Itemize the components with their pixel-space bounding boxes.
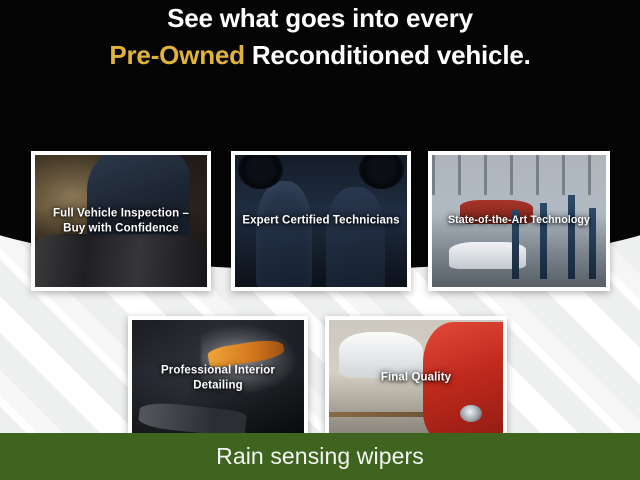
tire-left <box>238 155 283 189</box>
footer-label: Rain sensing wipers <box>216 443 424 470</box>
card-media: Expert Certified Technicians <box>235 155 407 287</box>
lift-post-3 <box>568 195 575 279</box>
headline-line-2-rest: Reconditioned vehicle. <box>245 40 531 70</box>
headline-line-2: Pre-Owned Reconditioned vehicle. <box>0 37 640 74</box>
tire-right <box>359 155 404 189</box>
card-media: State-of-the-Art Technology <box>432 155 606 287</box>
feature-card-professional-interior-detailing[interactable]: Professional Interior Detailing <box>128 316 308 440</box>
headline-line-1: See what goes into every <box>0 0 640 37</box>
showroom-floor-line <box>329 412 437 418</box>
card-media: Final Quality <box>329 320 503 436</box>
car-headlamp <box>460 405 483 422</box>
header-content: See what goes into every Pre-Owned Recon… <box>0 0 640 74</box>
promo-banner: See what goes into every Pre-Owned Recon… <box>0 0 640 480</box>
card-caption: Full Vehicle Inspection – Buy with Confi… <box>35 206 207 235</box>
feature-card-final-quality[interactable]: Final Quality <box>325 316 507 440</box>
feature-card-full-vehicle-inspection[interactable]: Full Vehicle Inspection – Buy with Confi… <box>31 151 211 291</box>
steam-hose <box>138 400 247 436</box>
card-media: Full Vehicle Inspection – Buy with Confi… <box>35 155 207 287</box>
footer-bar: Rain sensing wipers <box>0 433 640 480</box>
headline-highlight: Pre-Owned <box>109 40 244 70</box>
feature-card-expert-certified-technicians[interactable]: Expert Certified Technicians <box>231 151 411 291</box>
card-caption: Expert Certified Technicians <box>235 214 407 229</box>
feature-card-state-of-the-art-technology[interactable]: State-of-the-Art Technology <box>428 151 610 291</box>
card-media: Professional Interior Detailing <box>132 320 304 436</box>
card-caption: State-of-the-Art Technology <box>432 214 606 228</box>
card-caption: Professional Interior Detailing <box>132 363 304 392</box>
card-caption: Final Quality <box>329 371 503 386</box>
